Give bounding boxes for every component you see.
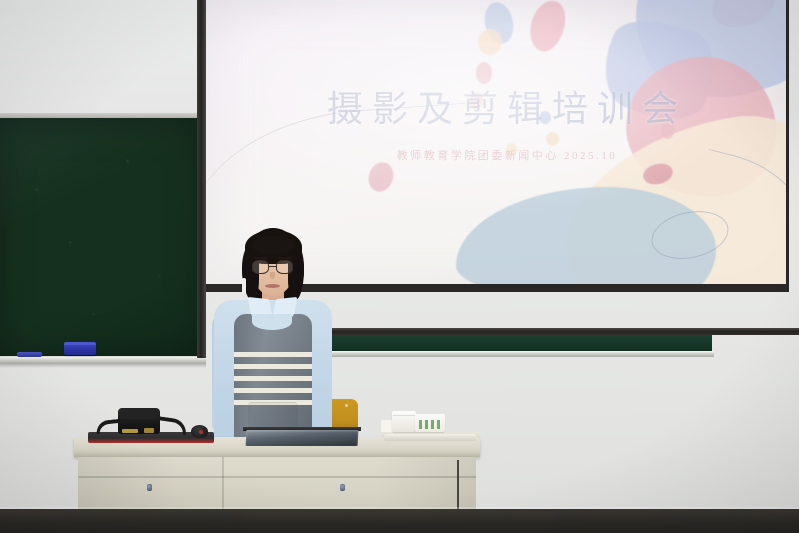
hair-bangs [252, 236, 295, 254]
blackboard-rail-right [302, 328, 799, 335]
chair-highlight [345, 404, 348, 407]
baseboard [0, 509, 799, 533]
vest-stripe [234, 364, 312, 369]
chalk-tray-right [300, 351, 714, 357]
presenter [212, 228, 332, 443]
computer-mouse-light [199, 430, 203, 434]
striped-vest [234, 314, 312, 443]
chalk-tray-shadow [0, 364, 206, 368]
cabinet-lock-left[interactable] [147, 484, 152, 491]
glasses-lens-left [252, 260, 269, 274]
lectern-drawer-seam [78, 476, 476, 478]
eyebrow-right [278, 257, 292, 259]
camera-bag-flap [120, 408, 158, 419]
blackboard-main [0, 118, 206, 357]
tissue-box-label [419, 420, 441, 429]
earbud [242, 278, 246, 294]
vest-neckline [252, 314, 292, 330]
decor-dot-cream-1 [546, 132, 559, 146]
cabinet-lock-right[interactable] [340, 484, 345, 491]
glasses-lens-right [276, 260, 293, 274]
decor-blob-cream-small [478, 29, 502, 55]
eyebrow-left [254, 257, 268, 259]
nose [270, 272, 275, 279]
camera-bag-brand-logo [122, 429, 138, 433]
keyboard-tray[interactable] [384, 434, 476, 441]
blackboard-right-strip [300, 335, 712, 351]
embedded-monitor[interactable] [246, 430, 359, 446]
glasses-bridge [269, 266, 276, 267]
camera-bag-brand-mark [144, 428, 154, 433]
mouth [265, 284, 280, 288]
blackboard-eraser[interactable] [64, 344, 96, 355]
slide-title: 摄影及剪辑培训会 [206, 80, 786, 132]
blackboard-marker[interactable] [17, 352, 42, 357]
chalk-tray-left [0, 356, 206, 364]
blackboard-eraser-top [64, 342, 96, 345]
vest-stripe [234, 352, 312, 357]
vest-stripe [234, 388, 312, 393]
classroom-photo: 摄影及剪辑培训会 教师教育学院团委新闻中心 2025.10 [0, 0, 799, 533]
paper-stack-seam [393, 415, 415, 416]
slide-subtitle: 教师教育学院团委新闻中心 2025.10 [206, 147, 786, 163]
decor-blob-pink-small [524, 0, 571, 56]
screen-left-frame-edge [197, 0, 206, 358]
vest-stripe [234, 376, 312, 381]
